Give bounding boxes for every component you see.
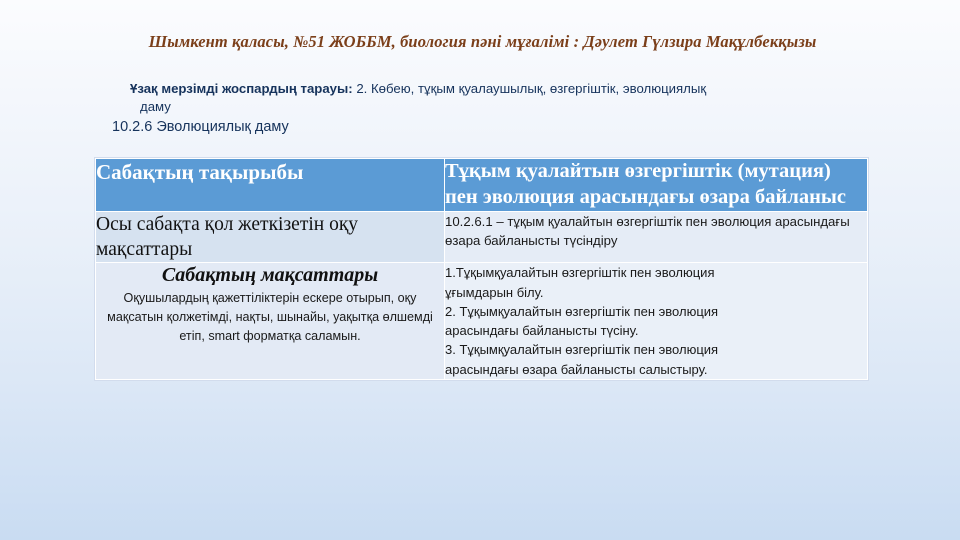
list-item: 3. Тұқымқуалайтын өзгергіштік пен эволюц… <box>445 340 867 359</box>
table-cell-lesson-goals-label: Сабақтың мақсаттары Оқушылардың қажеттіл… <box>96 263 445 379</box>
list-item: 2. Тұқымқуалайтын өзгергіштік пен эволюц… <box>445 302 867 321</box>
table-header-cell-topic-value: Тұқым қуалайтын өзгергіштік (мутация) пе… <box>445 159 868 212</box>
list-item: арасындағы өзара байланысты салыстыру. <box>445 360 867 379</box>
long-term-plan-value: 2. Көбею, тұқым қуалаушылық, өзгергіштік… <box>356 81 706 96</box>
lesson-goals-description: Оқушылардың қажеттіліктерін ескере отыры… <box>96 289 444 345</box>
list-item: ұғымдарын білу. <box>445 283 867 302</box>
table-row: Сабақтың мақсаттары Оқушылардың қажеттіл… <box>96 263 868 379</box>
lesson-plan-table: Сабақтың тақырыбы Тұқым қуалайтын өзгерг… <box>95 158 868 380</box>
long-term-plan-line: Ұзақ мерзімді жоспардың тарауы: 2. Көбею… <box>118 80 908 98</box>
long-term-plan-label: Ұзақ мерзімді жоспардың тарауы: <box>130 81 353 96</box>
subheader-block: Ұзақ мерзімді жоспардың тарауы: 2. Көбею… <box>118 80 908 116</box>
table-cell-learning-objectives-value: 10.2.6.1 – тұқым қуалайтын өзгергіштік п… <box>445 211 868 263</box>
table-row: Сабақтың тақырыбы Тұқым қуалайтын өзгерг… <box>96 159 868 212</box>
lesson-goals-heading: Сабақтың мақсаттары <box>96 263 444 287</box>
table-cell-learning-objectives-label: Осы сабақта қол жеткізетін оқу мақсаттар… <box>96 211 445 263</box>
long-term-plan-value-wrap: даму <box>118 98 908 116</box>
curriculum-code-line: 10.2.6 Эволюциялық даму <box>112 118 289 137</box>
table-row: Осы сабақта қол жеткізетін оқу мақсаттар… <box>96 211 868 263</box>
table-header-cell-topic-label: Сабақтың тақырыбы <box>96 159 445 212</box>
slide-title: Шымкент қаласы, №51 ЖОББМ, биология пәні… <box>60 32 905 53</box>
list-item: арасындағы байланысты түсіну. <box>445 321 867 340</box>
table-cell-lesson-goals-list: 1.Тұқымқуалайтын өзгергіштік пен эволюци… <box>445 263 868 379</box>
list-item: 1.Тұқымқуалайтын өзгергіштік пен эволюци… <box>445 263 867 282</box>
